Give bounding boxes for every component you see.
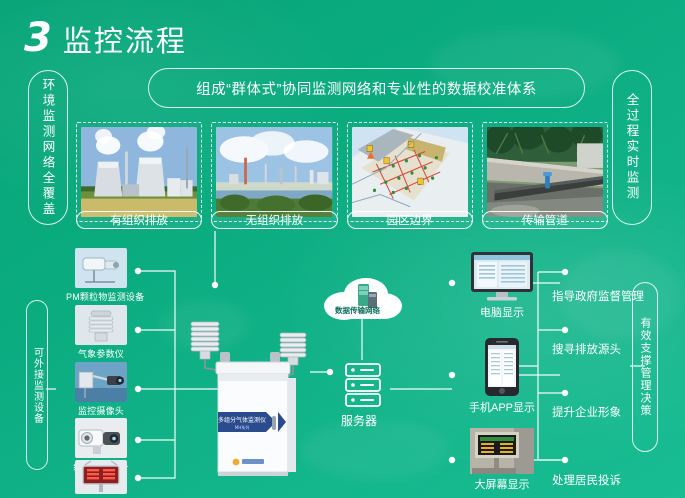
left-top-vertical-label: 环境监测网络全覆盖 — [28, 70, 68, 225]
left-bottom-vertical-label: 可外接监测设备 — [26, 300, 48, 470]
svg-text:MH系列: MH系列 — [235, 424, 249, 430]
server-label: 服务器 — [341, 412, 377, 429]
section-number: 3 — [24, 18, 52, 58]
device-item: 监控摄像头 — [66, 362, 136, 417]
photo-caption: 传输管道 — [482, 211, 608, 229]
industrial-skyline-waterfront-photo — [216, 127, 332, 217]
led-billboard-icon — [452, 428, 552, 474]
device-item: PM颗粒物监测设备 — [66, 248, 136, 303]
svg-text:多组分气体监测仪: 多组分气体监测仪 — [218, 416, 266, 424]
background-texture — [300, 420, 450, 480]
gas-monitoring-cabinet: 多组分气体监测仪 MH系列 — [212, 350, 312, 480]
photo-caption: 有组织排放 — [76, 211, 202, 229]
benefit-item: 提升企业形象 — [552, 404, 621, 420]
industrial-park-gis-map-photo — [352, 127, 468, 217]
banner-text: 组成“群体式”协同监测网络和专业性的数据校准体系 — [148, 68, 585, 108]
desktop-monitor-icon — [452, 250, 552, 302]
photo-cell — [76, 122, 202, 222]
display-item: 手机APP显示 — [452, 337, 552, 415]
power-plant-cooling-towers-photo — [81, 127, 197, 217]
server-icon — [344, 362, 382, 408]
device-item: 噪音监测设备 — [66, 460, 136, 498]
cloud-label: 数据传输网络 — [335, 305, 380, 316]
photo-caption-row: 有组织排放 无组织排放 园区边界 传输管道 — [76, 211, 608, 231]
photo-cell — [347, 122, 473, 222]
photo-caption: 无组织排放 — [211, 211, 337, 229]
data-transmission-cloud — [322, 276, 404, 324]
device-label: 监控摄像头 — [66, 404, 136, 417]
section-title: 监控流程 — [63, 28, 187, 57]
display-item: 大屏幕显示 — [452, 428, 552, 492]
cctv-camera-icon — [75, 362, 127, 402]
infrared-device-icon — [75, 418, 127, 458]
photo-caption: 园区边界 — [347, 211, 473, 229]
photo-cell — [211, 122, 337, 222]
photo-cell — [482, 122, 608, 222]
benefit-item: 搜寻排放源头 — [552, 341, 621, 357]
device-label: 气象参数仪 — [66, 347, 136, 360]
display-label: 手机APP显示 — [452, 399, 552, 415]
photo-row — [76, 122, 608, 222]
benefit-item: 处理居民投诉 — [552, 472, 621, 488]
infographic-page: 3 监控流程 环境监测网络全覆盖 全过程实时监测 组成“群体式”协同监测网络和专… — [0, 0, 685, 498]
device-label: PM颗粒物监测设备 — [66, 290, 136, 303]
pipeline-along-wall-photo — [487, 127, 603, 217]
smartphone-icon — [452, 337, 552, 397]
pm-sensor-icon — [75, 248, 127, 288]
display-label: 大屏幕显示 — [452, 476, 552, 492]
right-bottom-vertical-label: 有效支撑管理决策 — [632, 282, 658, 452]
display-label: 电脑显示 — [452, 304, 552, 320]
benefit-item: 指导政府监督管理 — [552, 288, 644, 304]
weather-sensor-icon — [75, 305, 127, 345]
right-top-vertical-label: 全过程实时监测 — [612, 70, 652, 225]
display-item: 电脑显示 — [452, 250, 552, 320]
page-title: 3 监控流程 — [24, 18, 187, 58]
device-item: 气象参数仪 — [66, 305, 136, 360]
noise-display-icon — [75, 460, 127, 494]
